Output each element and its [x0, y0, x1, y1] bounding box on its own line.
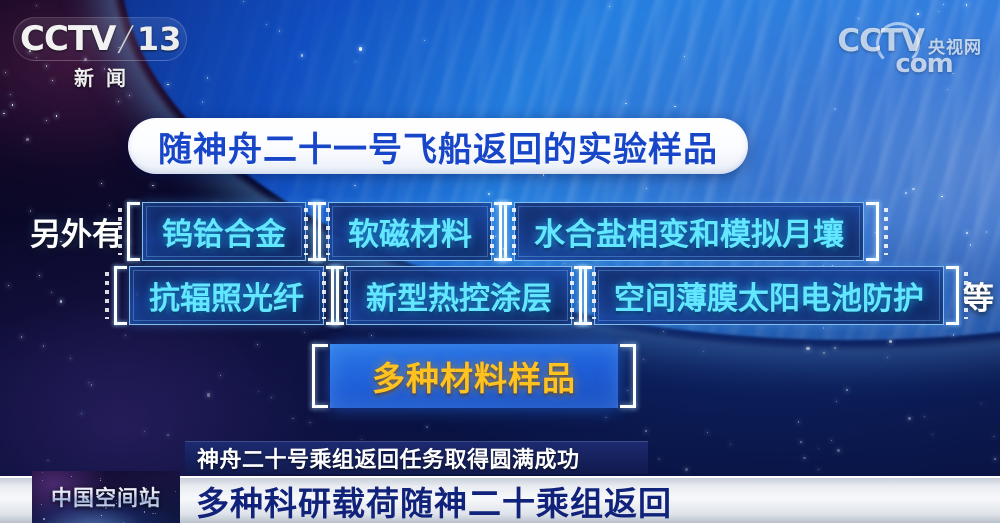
- tag-dash-left: [118, 208, 122, 255]
- highlight-callout[interactable]: 多种材料样品: [330, 344, 618, 408]
- tag-item[interactable]: 空间薄膜太阳电池防护: [594, 266, 944, 325]
- tag-dash-left: [304, 208, 308, 255]
- tag-bracket-left-icon: [331, 266, 344, 325]
- tag-item[interactable]: 钨铪合金: [142, 202, 306, 261]
- tag-bracket-left-icon: [499, 202, 512, 261]
- tag-label: 水合盐相变和模拟月壤: [534, 209, 844, 254]
- channel-number: 13: [137, 23, 182, 55]
- tag-dash-left: [490, 208, 494, 255]
- lower-third-headline: 多种科研载荷随神二十乘组返回: [196, 477, 672, 523]
- tag-bracket-left-icon: [313, 202, 326, 261]
- cctv-wordmark: CCTV: [20, 22, 115, 56]
- tag-bracket-left-icon: [114, 266, 127, 325]
- tag-label: 空间薄膜太阳电池防护: [614, 273, 924, 318]
- broadcast-frame: CCTV / 13 新闻 CCTV 央视网 com 随神舟二十一号飞船返回的实验…: [0, 0, 1000, 523]
- tag-bracket-left-icon: [579, 266, 592, 325]
- tag-label: 抗辐照光纤: [149, 273, 304, 318]
- graphic-title-text: 随神舟二十一号飞船返回的实验样品: [158, 122, 718, 171]
- highlight-label: 多种材料样品: [372, 352, 576, 400]
- highlight-bracket-right-icon: [620, 344, 636, 408]
- tag-dash-right: [592, 272, 596, 319]
- lower-third-subtitle: 神舟二十号乘组返回任务取得圆满成功: [197, 442, 580, 474]
- channel-subtitle: 新闻: [20, 62, 180, 91]
- tag-dash-left: [570, 272, 574, 319]
- tag-row-1: 另外有 钨铪合金 软磁材料 水合盐相变和模拟月壤: [22, 202, 875, 261]
- station-badge-text: 中国空间站: [51, 482, 161, 512]
- lead-word: 另外有: [30, 209, 123, 254]
- logo-slash-icon: /: [117, 22, 136, 56]
- tag-dash-right: [512, 208, 516, 255]
- tag-dash-right: [964, 272, 968, 319]
- watermark-com-text: com: [895, 51, 982, 77]
- tag-item[interactable]: 软磁材料: [328, 202, 492, 261]
- graphic-title-banner: 随神舟二十一号飞船返回的实验样品: [128, 118, 748, 174]
- tag-label: 软磁材料: [348, 209, 472, 254]
- tag-bracket-right-icon: [946, 266, 959, 325]
- tag-item[interactable]: 抗辐照光纤: [129, 266, 324, 325]
- tag-item[interactable]: 水合盐相变和模拟月壤: [514, 202, 864, 261]
- tag-item[interactable]: 新型热控涂层: [346, 266, 572, 325]
- cctv-com-watermark: CCTV 央视网 com: [837, 26, 982, 77]
- tag-label: 新型热控涂层: [366, 273, 552, 318]
- tag-dash-right: [326, 208, 330, 255]
- tag-dash-left: [322, 272, 326, 319]
- station-badge: 中国空间站: [32, 471, 180, 523]
- tag-label: 钨铪合金: [162, 209, 286, 254]
- tag-dash-right: [884, 208, 888, 255]
- highlight-bracket-left-icon: [312, 344, 328, 408]
- lower-third-subbar: 神舟二十号乘组返回任务取得圆满成功: [185, 441, 648, 474]
- tag-dash-right: [344, 272, 348, 319]
- highlight-box: 多种材料样品: [330, 344, 618, 408]
- tag-row-2: 抗辐照光纤 新型热控涂层 空间薄膜太阳电池防护 等: [118, 266, 1000, 325]
- cctv13-logo: CCTV / 13 新闻: [20, 22, 180, 91]
- tag-dash-left: [105, 272, 109, 319]
- cctv13-logo-row: CCTV / 13: [20, 22, 180, 56]
- tag-bracket-right-icon: [866, 202, 879, 261]
- tag-bracket-left-icon: [127, 202, 140, 261]
